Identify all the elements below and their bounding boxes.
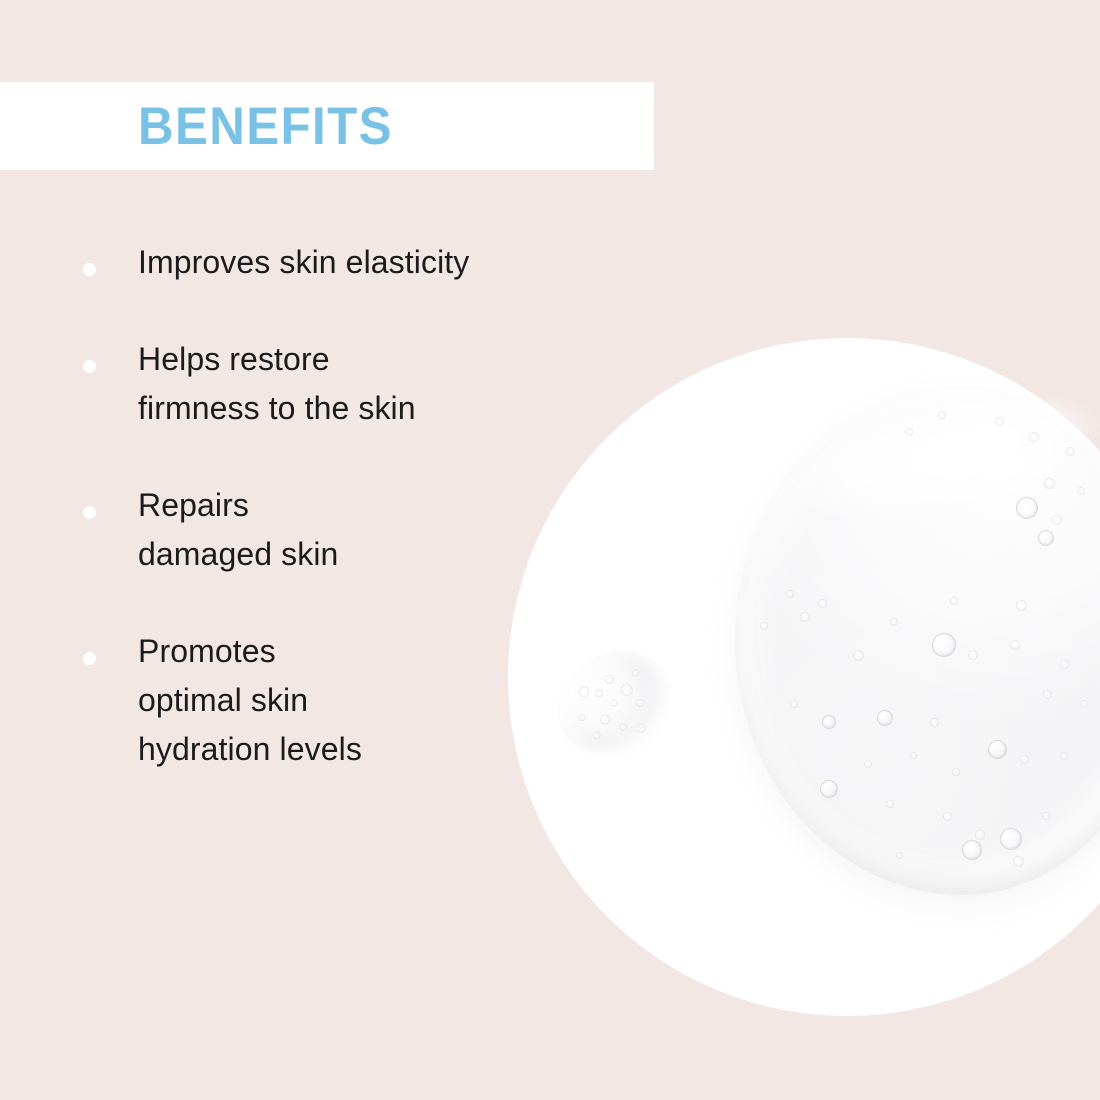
- bubble-icon: [800, 612, 810, 622]
- bubble-icon: [1044, 478, 1055, 489]
- bubble-icon: [968, 650, 978, 660]
- bubble-icon: [853, 650, 864, 661]
- bubble-icon: [1080, 700, 1088, 708]
- bubble-icon: [1016, 497, 1038, 519]
- bubble-icon: [995, 417, 1004, 426]
- bullet-dot-icon: [83, 652, 96, 665]
- bubble-icon: [619, 682, 635, 698]
- bubble-icon: [1043, 690, 1052, 699]
- bubble-icon: [910, 752, 917, 759]
- bubble-icon: [1016, 600, 1027, 611]
- bubble-icon: [877, 710, 893, 726]
- bubble-icon: [950, 597, 958, 605]
- bubble-icon: [822, 715, 836, 729]
- bubble-icon: [1052, 515, 1062, 525]
- list-item: Improves skin elasticity: [78, 238, 598, 287]
- bubble-icon: [1060, 660, 1069, 669]
- bubble-icon: [938, 411, 946, 419]
- gel-rim-shading: [735, 385, 1100, 895]
- bubble-icon: [952, 768, 960, 776]
- bubble-icon: [1077, 487, 1085, 495]
- gel-specular-highlight: [788, 377, 1100, 538]
- bubble-icon: [820, 780, 838, 798]
- bubble-icon: [786, 590, 794, 598]
- bubble-icon: [635, 722, 647, 734]
- bubble-icon: [790, 700, 798, 708]
- bubble-icon: [905, 428, 913, 436]
- bubble-icon: [760, 622, 768, 630]
- bubble-icon: [886, 800, 894, 808]
- page-title: BENEFITS: [138, 100, 393, 153]
- bubble-icon: [598, 713, 612, 727]
- benefit-text: Promotes optimal skin hydration levels: [138, 633, 362, 767]
- bubble-icon: [1029, 432, 1039, 442]
- list-item: Promotes optimal skin hydration levels: [78, 627, 598, 774]
- bubble-icon: [988, 740, 1007, 759]
- benefit-text: Improves skin elasticity: [138, 244, 469, 280]
- list-item: Repairs damaged skin: [78, 481, 598, 579]
- bubble-icon: [1000, 828, 1022, 850]
- bubble-icon: [890, 618, 898, 626]
- benefits-list: Improves skin elasticity Helps restore f…: [78, 238, 598, 774]
- bubble-icon: [1066, 447, 1075, 456]
- bubble-icon: [930, 718, 939, 727]
- bubble-icon: [1020, 755, 1029, 764]
- bubble-icon: [943, 812, 952, 821]
- bubble-icon: [975, 830, 985, 840]
- bubble-icon: [1013, 856, 1024, 867]
- bubble-icon: [962, 840, 982, 860]
- bubble-icon: [1042, 812, 1050, 820]
- bubble-icon: [619, 723, 628, 732]
- bullet-dot-icon: [83, 263, 96, 276]
- bubble-icon: [1010, 640, 1020, 650]
- bubble-icon: [864, 760, 872, 768]
- bubble-icon: [932, 633, 956, 657]
- bubble-icon: [1060, 752, 1068, 760]
- bubble-icon: [818, 599, 827, 608]
- section-header-band: BENEFITS: [0, 82, 654, 170]
- benefit-text: Repairs damaged skin: [138, 487, 338, 572]
- benefit-text: Helps restore firmness to the skin: [138, 341, 416, 426]
- bubble-icon: [896, 852, 903, 859]
- bullet-dot-icon: [83, 360, 96, 373]
- bubble-icon: [635, 698, 646, 709]
- large-serum-gel-droplet: [735, 385, 1100, 895]
- bubble-icon: [1038, 530, 1054, 546]
- bubble-icon: [631, 669, 640, 678]
- list-item: Helps restore firmness to the skin: [78, 335, 598, 433]
- bubble-icon: [609, 698, 618, 707]
- bullet-dot-icon: [83, 506, 96, 519]
- benefits-poster: BENEFITS Improves skin elasticity Helps …: [0, 0, 1100, 1100]
- bubble-icon: [603, 673, 615, 685]
